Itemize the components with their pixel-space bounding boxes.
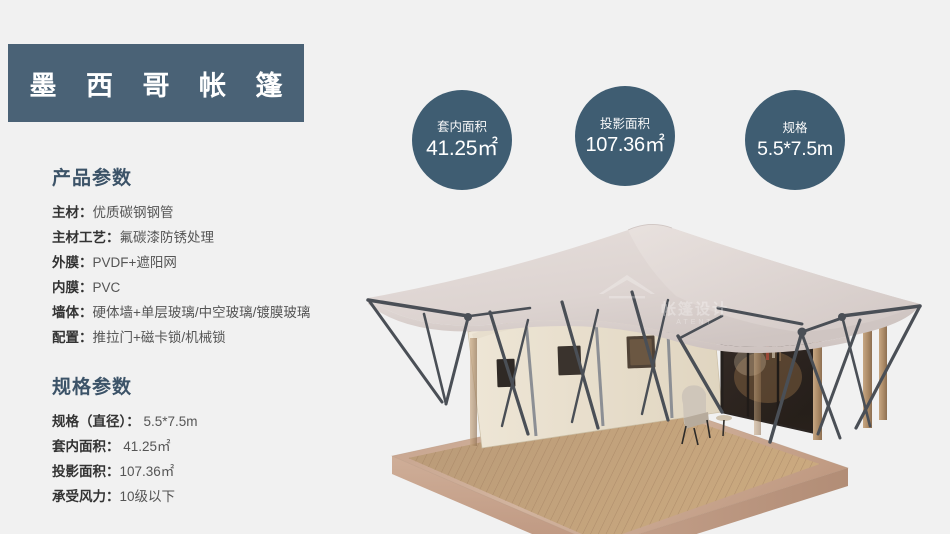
spec-label: 内膜：	[52, 280, 93, 295]
spec-value: 107.36㎡	[120, 464, 175, 479]
spec-parameters-section: 规格参数 规格（直径）： 5.5*7.5m 套内面积： 41.25㎡ 投影面积：…	[52, 372, 382, 509]
spec-row: 外膜：PVDF+遮阳网	[52, 250, 382, 275]
spec-label: 主材工艺：	[52, 230, 120, 245]
stat-value: 107.36㎡	[585, 135, 664, 156]
stat-value: 41.25㎡	[426, 138, 498, 160]
stat-badge-projected-area: 投影面积 107.36㎡	[575, 86, 675, 186]
spec-value: 10级以下	[120, 489, 176, 504]
spec-value: PVDF+遮阳网	[93, 255, 177, 270]
spec-value: PVC	[93, 280, 121, 295]
title-banner: 墨 西 哥 帐 篷	[8, 44, 304, 122]
stat-badge-interior-area: 套内面积 41.25㎡	[412, 90, 512, 190]
spec-parameters-heading: 规格参数	[52, 372, 382, 399]
spec-value: 41.25㎡	[120, 439, 171, 454]
spec-label: 投影面积：	[52, 464, 120, 479]
spec-label: 主材：	[52, 205, 93, 220]
tent-render: 帐篷设计 ATENT	[350, 212, 950, 534]
stat-label: 套内面积	[437, 120, 487, 135]
spec-row: 墙体：硬体墙+单层玻璃/中空玻璃/镀膜玻璃	[52, 300, 382, 325]
stat-badges: 套内面积 41.25㎡ 投影面积 107.36㎡ 规格 5.5*7.5m	[412, 86, 937, 190]
spec-label: 套内面积：	[52, 439, 120, 454]
spec-label: 外膜：	[52, 255, 93, 270]
stat-value: 5.5*7.5m	[757, 139, 833, 159]
tent-render-svg	[350, 212, 950, 534]
spec-row: 配置：推拉门+磁卡锁/机械锁	[52, 325, 382, 350]
spec-row: 主材：优质碳钢钢管	[52, 200, 382, 225]
page-title: 墨 西 哥 帐 篷	[18, 64, 293, 103]
spec-label: 墙体：	[52, 305, 93, 320]
product-parameters-section: 产品参数 主材：优质碳钢钢管 主材工艺：氟碳漆防锈处理 外膜：PVDF+遮阳网 …	[52, 163, 382, 350]
spec-label: 配置：	[52, 330, 93, 345]
spec-label: 承受风力：	[52, 489, 120, 504]
stat-label: 规格	[782, 121, 807, 136]
spec-row: 主材工艺：氟碳漆防锈处理	[52, 225, 382, 250]
product-parameters-heading: 产品参数	[52, 163, 382, 190]
spec-value: 氟碳漆防锈处理	[120, 230, 215, 245]
spec-row: 规格（直径）： 5.5*7.5m	[52, 409, 382, 434]
spec-value: 优质碳钢钢管	[93, 205, 174, 220]
spec-value: 推拉门+磁卡锁/机械锁	[93, 330, 226, 345]
stat-badge-dimensions: 规格 5.5*7.5m	[745, 90, 845, 190]
stat-label: 投影面积	[600, 117, 650, 132]
spec-row: 承受风力：10级以下	[52, 484, 382, 509]
spec-value: 5.5*7.5m	[140, 414, 198, 429]
spec-value: 硬体墙+单层玻璃/中空玻璃/镀膜玻璃	[93, 305, 311, 320]
spec-row: 套内面积： 41.25㎡	[52, 434, 382, 459]
specifications-panel: 产品参数 主材：优质碳钢钢管 主材工艺：氟碳漆防锈处理 外膜：PVDF+遮阳网 …	[52, 163, 382, 509]
spec-row: 内膜：PVC	[52, 275, 382, 300]
spec-label: 规格（直径）：	[52, 414, 140, 429]
spec-row: 投影面积：107.36㎡	[52, 459, 382, 484]
